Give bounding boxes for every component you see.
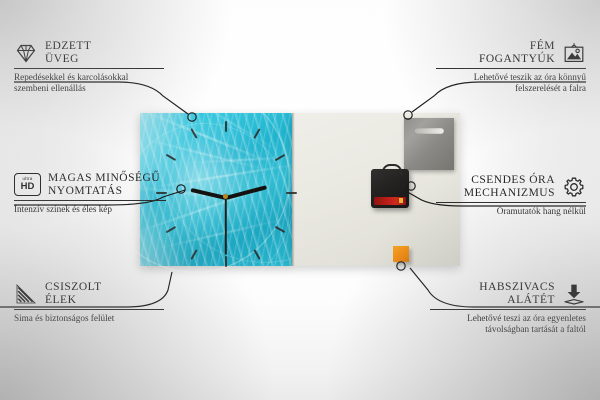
infographic-canvas: EDZETT ÜVEG Repedésekkel és karcolásokka… [0,0,600,400]
hour-marker [225,121,227,132]
picture-frame-hook-icon [562,41,586,65]
ultra-hd-icon: ultra HD [14,173,41,196]
callout-title: MAGAS MINŐSÉGŰ NYOMTATÁS [48,172,160,197]
ultra-hd-icon-main-label: HD [21,182,35,192]
second-hand [225,198,227,255]
callout-description: Intenzív színek és éles kép [14,204,166,215]
callout-description: Repedésekkel és karcolásokkal szembeni e… [14,72,164,94]
callout-header: FÉM FOGANTYÚK [436,40,586,65]
callout-title: FÉM FOGANTYÚK [479,40,555,65]
mechanism-battery [374,197,406,205]
hour-marker [225,256,227,267]
mechanism-hook [382,164,402,175]
callout-title: EDZETT ÜVEG [45,40,91,65]
callout-title: HABSZIVACS ALÁTÉT [479,281,555,306]
hour-marker [286,192,297,194]
callout-rule [14,200,166,201]
gear-icon [562,175,586,199]
callout-silent-mechanism[interactable]: CSENDES ÓRA MECHANIZMUS Óramutatók hang … [436,174,586,217]
polished-edge-icon [14,282,38,306]
callout-description: Lehetővé teszik az óra könnyű felszerelé… [436,72,586,94]
callout-header: CSISZOLT ÉLEK [14,281,164,306]
callout-high-quality-print[interactable]: ultra HD MAGAS MINŐSÉGŰ NYOMTATÁS Intenz… [14,172,166,215]
callout-metal-handles[interactable]: FÉM FOGANTYÚK Lehetővé teszik az óra kön… [436,40,586,94]
callout-description: Sima és biztonságos felület [14,313,164,324]
callout-foam-pad[interactable]: HABSZIVACS ALÁTÉT Lehetővé teszi az óra … [430,281,586,335]
callout-rule [14,309,164,310]
callout-polished-edges[interactable]: CSISZOLT ÉLEK Sima és biztonságos felüle… [14,281,164,324]
clock-mechanism [371,169,409,208]
clock-center-cap [223,194,228,199]
panel-divider [292,113,295,266]
callout-title: CSISZOLT ÉLEK [45,281,102,306]
callout-title: CSENDES ÓRA MECHANIZMUS [464,174,555,199]
metal-hanger-plate [404,118,454,170]
callout-header: CSENDES ÓRA MECHANIZMUS [436,174,586,199]
callout-header: ultra HD MAGAS MINŐSÉGŰ NYOMTATÁS [14,172,166,197]
arrow-onto-pad-icon [562,282,586,306]
callout-rule [436,202,586,203]
callout-header: EDZETT ÜVEG [14,40,164,65]
callout-rule [14,68,164,69]
callout-rule [430,309,586,310]
callout-tempered-glass[interactable]: EDZETT ÜVEG Repedésekkel és karcolásokka… [14,40,164,94]
diamond-icon [14,41,38,65]
callout-header: HABSZIVACS ALÁTÉT [430,281,586,306]
callout-description: Lehetővé teszi az óra egyenletes távolsá… [430,313,586,335]
callout-description: Óramutatók hang nélkül [436,206,586,217]
callout-rule [436,68,586,69]
foam-spacer-pad [393,246,409,262]
